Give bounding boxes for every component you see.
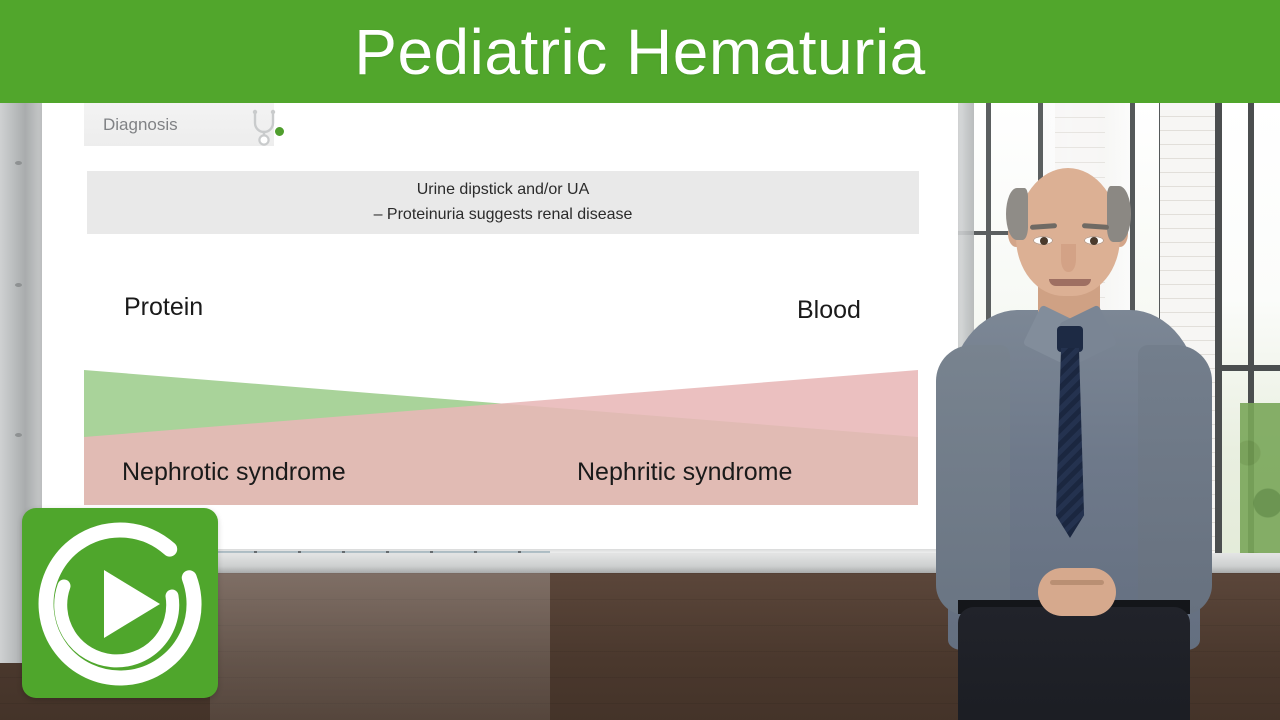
brand-logo[interactable] xyxy=(22,508,218,698)
floor-reflection xyxy=(210,573,550,720)
presenter-hands xyxy=(1038,568,1116,616)
presenter-mouth xyxy=(1049,279,1091,286)
presenter-nose xyxy=(1061,244,1076,272)
slide-board: Diagnosis Urine dipstick and/or UA – Pro… xyxy=(42,103,958,549)
diagram-label-nephritic-syndrome: Nephritic syndrome xyxy=(577,458,792,487)
diagram-label-nephrotic-syndrome: Nephrotic syndrome xyxy=(122,458,346,487)
lecturio-play-logo-icon xyxy=(22,508,218,698)
presenter-hair xyxy=(1010,158,1126,220)
presenter-arm-left xyxy=(936,345,1010,615)
presenter-video xyxy=(930,120,1260,720)
presenter-pupil-right xyxy=(1090,237,1098,245)
presenter-arm-right xyxy=(1138,345,1212,615)
page-title: Pediatric Hematuria xyxy=(354,20,926,84)
title-banner: Pediatric Hematuria xyxy=(0,0,1280,103)
presenter-pupil-left xyxy=(1040,237,1048,245)
presenter-trousers xyxy=(958,607,1190,720)
